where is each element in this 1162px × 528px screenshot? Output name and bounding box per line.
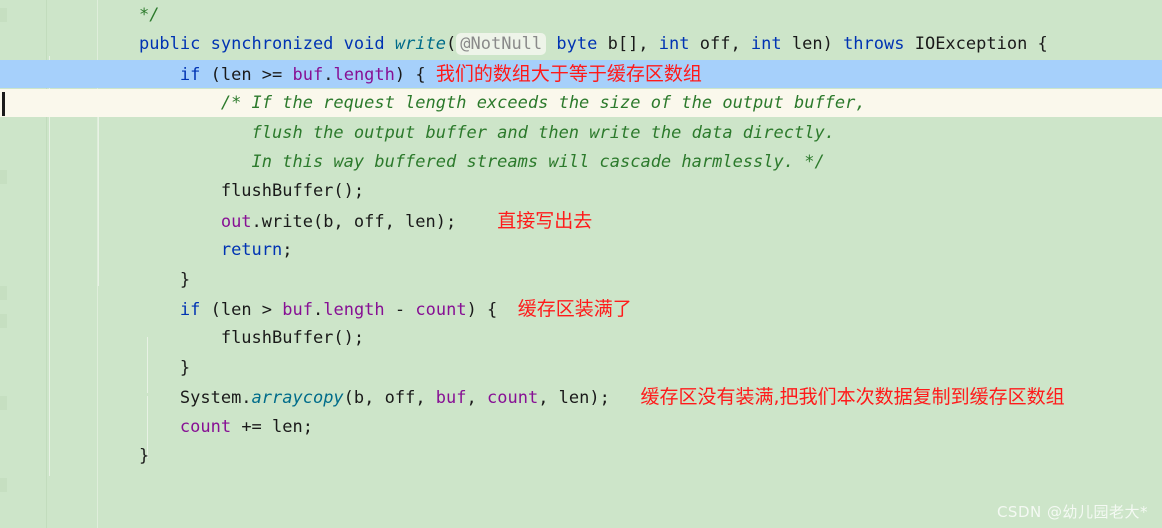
code-token [98, 123, 252, 143]
code-token: (b, off, [344, 388, 436, 408]
code-token [98, 93, 221, 113]
code-token: b[], [597, 34, 658, 54]
code-token: } [98, 270, 190, 290]
code-token: , len); [538, 388, 640, 408]
line-text[interactable]: flush the output buffer and then write t… [98, 119, 835, 147]
code-token: ) { [395, 65, 436, 85]
line-background [0, 442, 1162, 470]
code-token: ) { [467, 300, 518, 320]
code-token: System. [180, 388, 252, 408]
line-if-len-ge-buflength[interactable]: if (len >= buf.length) { 我们的数组大于等于缓存区数组 [0, 60, 1162, 88]
code-token [98, 152, 252, 172]
line-text[interactable]: */ [98, 1, 159, 29]
code-token [98, 34, 139, 54]
annotation-note: 直接写出去 [497, 210, 592, 232]
text-caret [2, 92, 5, 116]
code-token: . [313, 300, 323, 320]
line-text[interactable]: count += len; [98, 413, 313, 441]
line-text[interactable]: public synchronized void write(@NotNull … [98, 30, 1048, 58]
keyword-token: if [180, 65, 200, 85]
line-text[interactable]: if (len >= buf.length) { 我们的数组大于等于缓存区数组 [98, 60, 702, 88]
code-token: flushBuffer(); [221, 181, 364, 201]
line-if-len-gt-buflength-count[interactable]: if (len > buf.length - count) { 缓存区装满了 [0, 295, 1162, 323]
annotation-note: 缓存区没有装满,把我们本次数据复制到缓存区数组 [641, 386, 1065, 408]
line-text[interactable]: } [98, 442, 149, 470]
field-token: length [333, 65, 394, 85]
code-token [98, 328, 221, 348]
line-text[interactable]: } [98, 266, 190, 294]
line-return[interactable]: return; [0, 236, 1162, 264]
annotation-note: 我们的数组大于等于缓存区数组 [436, 63, 702, 85]
code-token: (len >= [200, 65, 292, 85]
code-token [98, 212, 221, 232]
csdn-watermark: CSDN @幼儿园老大* [997, 501, 1148, 522]
code-token: . [323, 65, 333, 85]
line-method-signature[interactable]: public synchronized void write(@NotNull … [0, 30, 1162, 58]
code-token [98, 417, 180, 437]
comment-token: flush the output buffer and then write t… [252, 123, 835, 143]
line-flushbuffer-1[interactable]: flushBuffer(); [0, 177, 1162, 205]
method-token: arraycopy [252, 388, 344, 408]
line-system-arraycopy[interactable]: System.arraycopy(b, off, buf, count, len… [0, 383, 1162, 411]
code-token [98, 181, 221, 201]
line-block-comment-3[interactable]: In this way buffered streams will cascad… [0, 148, 1162, 176]
code-token [98, 5, 139, 25]
code-token: off, [690, 34, 751, 54]
comment-token: /* If the request length exceeds the siz… [221, 93, 866, 113]
keyword-token: int [659, 34, 690, 54]
code-token: - [385, 300, 416, 320]
line-close-brace-1[interactable]: } [0, 266, 1162, 294]
line-block-comment-1[interactable]: /* If the request length exceeds the siz… [0, 89, 1162, 117]
line-text[interactable]: return; [98, 236, 293, 264]
code-token [98, 240, 221, 260]
line-comment-close[interactable]: */ [0, 1, 1162, 29]
field-token: count [487, 388, 538, 408]
code-token [98, 300, 180, 320]
line-text[interactable]: flushBuffer(); [98, 177, 364, 205]
code-token: , [467, 388, 487, 408]
notnull-annotation: @NotNull [456, 33, 546, 55]
annotation-note: 缓存区装满了 [518, 298, 632, 320]
code-token: IOException { [904, 34, 1047, 54]
line-background [0, 1, 1162, 29]
code-token: } [98, 358, 190, 378]
line-flushbuffer-2[interactable]: flushBuffer(); [0, 324, 1162, 352]
code-token: .write(b, off, len); [252, 212, 498, 232]
method-token: write [395, 34, 446, 54]
code-token [98, 65, 180, 85]
keyword-token: public synchronized void [139, 34, 395, 54]
field-token: count [180, 417, 231, 437]
comment-token: */ [139, 5, 159, 25]
line-close-brace-3[interactable]: } [0, 442, 1162, 470]
field-token: buf [293, 65, 324, 85]
line-text[interactable]: /* If the request length exceeds the siz… [98, 89, 866, 117]
code-token: += len; [231, 417, 313, 437]
line-out-write[interactable]: out.write(b, off, len); 直接写出去 [0, 207, 1162, 235]
code-token: flushBuffer(); [221, 328, 364, 348]
line-close-brace-2[interactable]: } [0, 354, 1162, 382]
keyword-token: byte [556, 34, 597, 54]
field-token: buf [282, 300, 313, 320]
code-token: ( [446, 34, 456, 54]
line-block-comment-2[interactable]: flush the output buffer and then write t… [0, 119, 1162, 147]
line-count-plus-len[interactable]: count += len; [0, 413, 1162, 441]
code-token: len) [782, 34, 843, 54]
code-editor[interactable]: */ public synchronized void write(@NotNu… [0, 0, 1162, 528]
line-text[interactable]: System.arraycopy(b, off, buf, count, len… [98, 383, 1065, 411]
line-text[interactable]: In this way buffered streams will cascad… [98, 148, 825, 176]
line-text[interactable]: flushBuffer(); [98, 324, 364, 352]
gutter-mark [0, 478, 7, 492]
line-text[interactable]: if (len > buf.length - count) { 缓存区装满了 [98, 295, 632, 323]
code-token [98, 388, 180, 408]
keyword-token: int [751, 34, 782, 54]
line-text[interactable]: } [98, 354, 190, 382]
field-token: length [323, 300, 384, 320]
code-token: ; [282, 240, 292, 260]
line-text[interactable]: out.write(b, off, len); 直接写出去 [98, 207, 592, 235]
keyword-token: throws [843, 34, 904, 54]
code-token: (len > [200, 300, 282, 320]
code-token [546, 34, 556, 54]
field-token: buf [436, 388, 467, 408]
keyword-token: if [180, 300, 200, 320]
field-token: count [415, 300, 466, 320]
field-token: out [221, 212, 252, 232]
keyword-token: return [221, 240, 282, 260]
comment-token: In this way buffered streams will cascad… [252, 152, 825, 172]
code-token: } [98, 446, 149, 466]
